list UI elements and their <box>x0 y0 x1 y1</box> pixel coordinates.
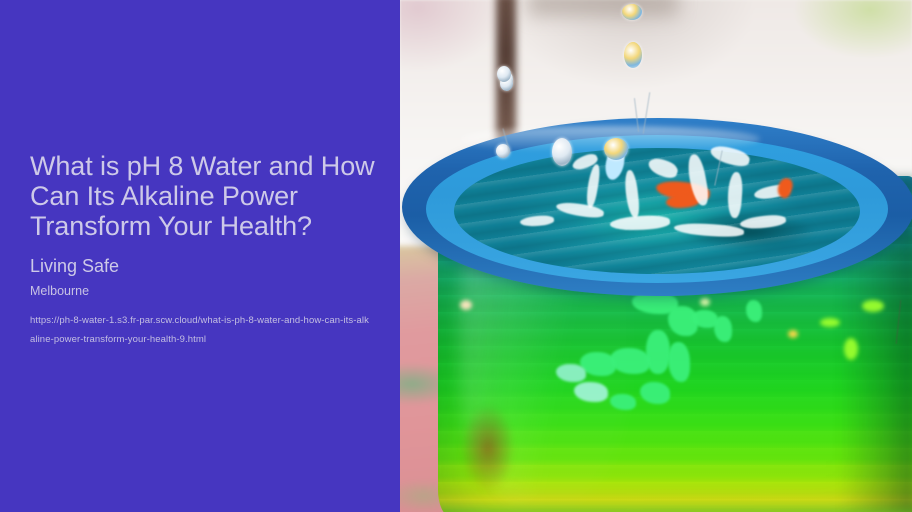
page-title: What is pH 8 Water and How Can Its Alkal… <box>30 151 382 241</box>
water-glint <box>460 300 472 310</box>
water-glint <box>820 318 840 327</box>
water-glint <box>844 338 858 360</box>
submerged-debris-cluster <box>550 290 800 430</box>
airborne-droplet <box>622 4 642 20</box>
water-glint <box>788 330 798 338</box>
article-photo <box>400 0 912 512</box>
airborne-droplet <box>624 42 642 68</box>
water-glint <box>700 298 710 306</box>
splash-droplet <box>604 138 628 160</box>
article-url[interactable]: https://ph-8-water-1.s3.fr-par.scw.cloud… <box>30 311 370 349</box>
text-panel: What is pH 8 Water and How Can Its Alkal… <box>0 0 400 512</box>
site-name: Living Safe <box>30 255 382 277</box>
splash-droplet <box>552 138 572 166</box>
airborne-droplet <box>497 66 511 82</box>
article-share-card: What is pH 8 Water and How Can Its Alkal… <box>0 0 912 512</box>
locality-label: Melbourne <box>30 283 382 299</box>
photo-backdrop-blur-bar <box>528 0 678 16</box>
text-stack: What is pH 8 Water and How Can Its Alkal… <box>30 151 382 349</box>
water-dark-patch <box>658 206 838 256</box>
bucket-red-reflection <box>452 388 524 506</box>
water-surface <box>454 148 860 274</box>
water-glint <box>862 300 884 312</box>
